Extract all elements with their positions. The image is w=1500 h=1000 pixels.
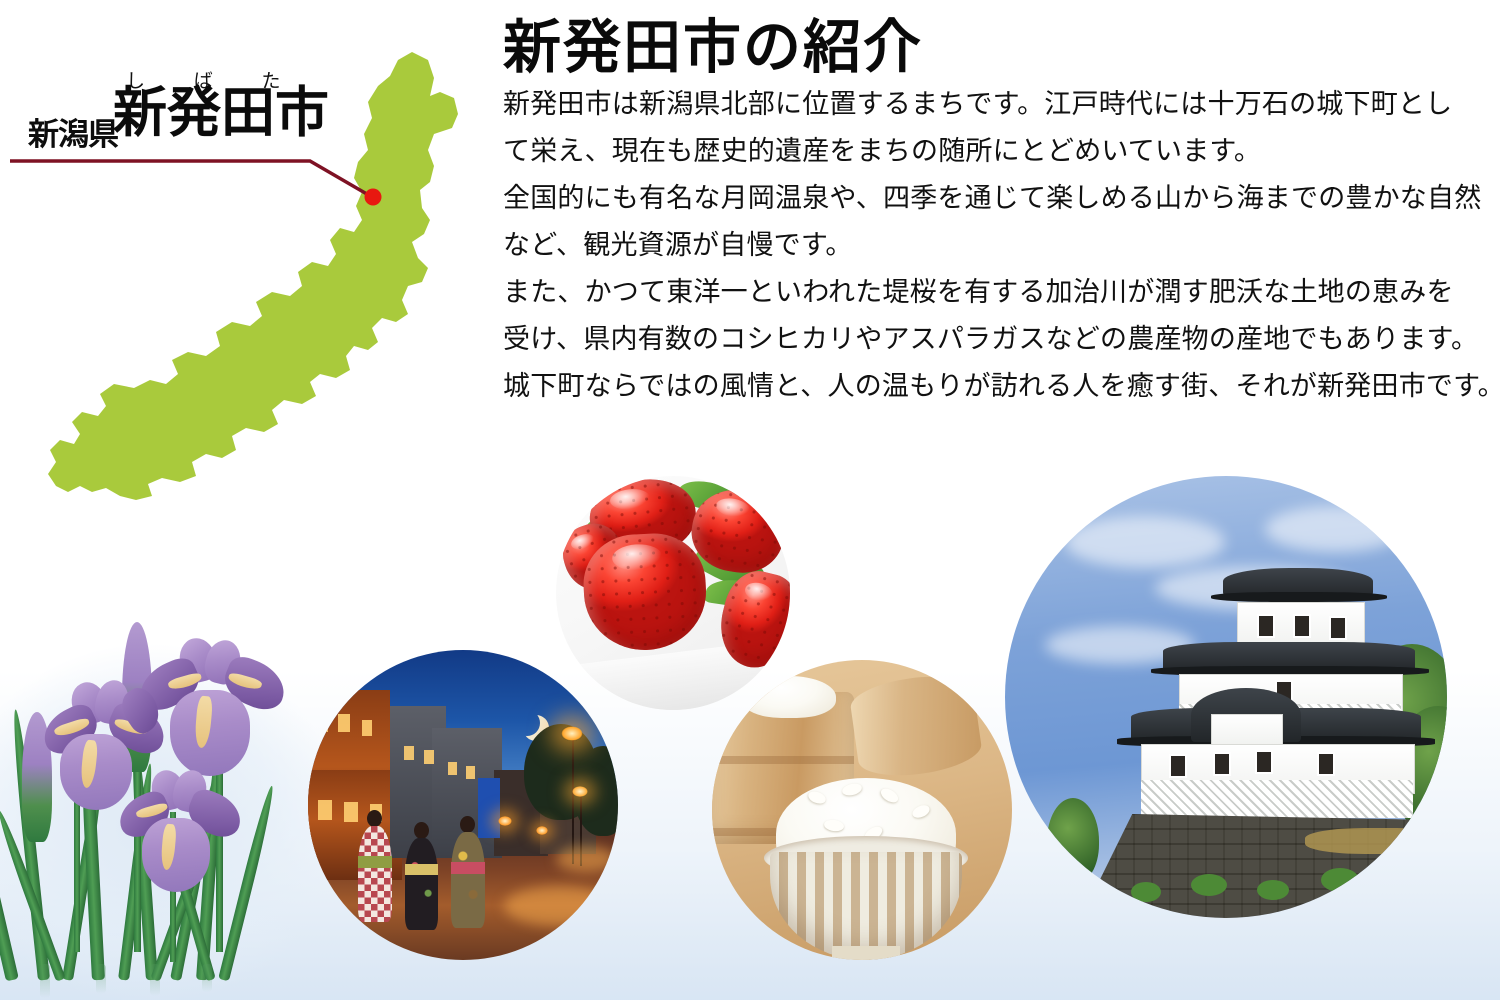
- page-title: 新発田市の紹介: [503, 18, 1468, 79]
- leader-polyline: [10, 161, 372, 197]
- body-line-4: など、観光資源が自慢です。: [503, 232, 1468, 259]
- shibata-city-marker: [365, 189, 382, 206]
- intro-text-block: 新発田市の紹介 新発田市は新潟県北部に位置するまちです。江戸時代には十万石の城下…: [503, 18, 1468, 420]
- body-line-6: 受け、県内有数のコシヒカリやアスパラガスなどの農産物の産地でもあります。: [503, 326, 1468, 353]
- iris-flower-lower-center: [118, 770, 248, 900]
- body-line-3: 全国的にも有名な月岡温泉や、四季を通じて楽しめる山から海までの豊かな自然: [503, 185, 1468, 212]
- body-line-2: て栄え、現在も歴史的遺産をまちの随所にとどめいています。: [503, 138, 1468, 165]
- map-label-group: し ば た 新潟県 新発田市: [14, 62, 334, 162]
- prefecture-name: 新潟県: [28, 109, 118, 154]
- crescent-moon-icon: [514, 710, 540, 736]
- body-line-5: また、かつて東洋一といわれた堤桜を有する加治川が潤す肥沃な土地の恵みを: [503, 279, 1468, 306]
- photo-rice: [712, 660, 1012, 960]
- poster-canvas: し ば た 新潟県 新発田市 新発田市の紹介 新発田市は新潟県北部に位置するまち…: [0, 0, 1500, 1000]
- photo-castle: [1005, 476, 1447, 918]
- iris-flower-upper-right: [140, 638, 290, 788]
- body-line-7: 城下町ならではの風情と、人の温もりが訪れる人を癒す街、それが新発田市です。: [503, 373, 1468, 400]
- iris-flowers-illustration: [0, 612, 300, 1000]
- body-line-1: 新発田市は新潟県北部に位置するまちです。江戸時代には十万石の城下町とし: [503, 91, 1468, 118]
- street-lamp-icon: [561, 726, 583, 741]
- city-name: 新発田市: [113, 86, 329, 140]
